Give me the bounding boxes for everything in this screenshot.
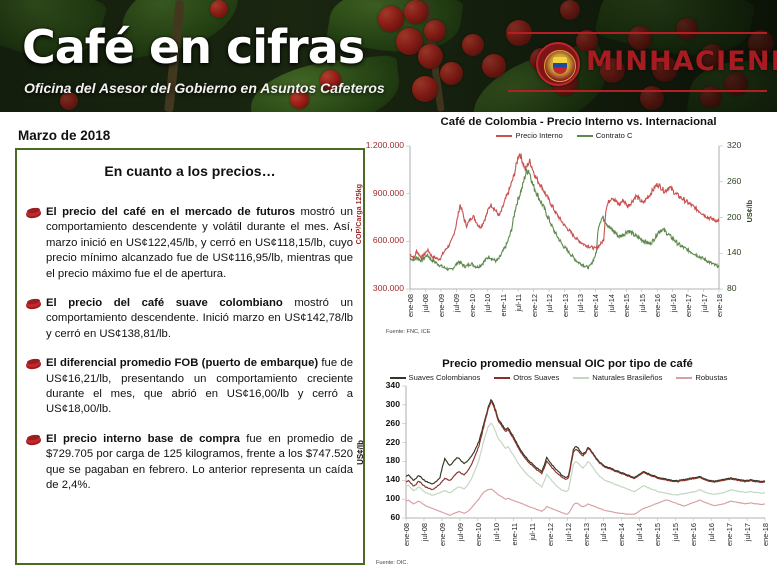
x-axis-tick: jul-08: [421, 294, 430, 312]
chart-precio-interno-vs-internacional: Café de Colombia - Precio Interno vs. In…: [352, 116, 777, 358]
chart-source-note: Fuente: FNC, ICE: [386, 329, 430, 335]
bullet-lead: El precio interno base de compra: [46, 433, 240, 445]
x-axis-tick: ene-18: [761, 523, 770, 546]
series-otros-suaves: [406, 402, 765, 490]
y-axis-tick-left: 300.000: [344, 283, 404, 293]
x-axis-tick: jul-10: [492, 523, 501, 541]
y-axis-tick-right: 80: [727, 283, 737, 293]
x-axis-tick: ene-16: [653, 294, 662, 317]
bullet-text: El precio del café suave colombiano most…: [46, 296, 353, 342]
y-axis-tick-right: 320: [727, 140, 741, 150]
legend-item: Contrato C: [577, 131, 633, 140]
y-axis-tick-right: 140: [727, 247, 741, 257]
list-item: El diferencial promedio FOB (puerto de e…: [26, 356, 353, 418]
y-axis-tick-right: 200: [727, 212, 741, 222]
legend-item: Precio Interno: [496, 131, 562, 140]
chart-plot-area: 300.000600.000900.0001.200.0008014020026…: [352, 140, 777, 335]
x-axis-tick: jul-15: [671, 523, 680, 541]
legend-item: Otros Suaves: [494, 373, 559, 382]
y-axis-label: US¢/lb: [356, 440, 365, 465]
x-axis-tick: ene-13: [561, 294, 570, 317]
legend-item: Robustas: [676, 373, 727, 382]
y-axis-tick: 260: [360, 418, 400, 428]
x-axis-tick: jul-17: [700, 294, 709, 312]
y-axis-tick: 340: [360, 380, 400, 390]
legend-swatch: [494, 377, 510, 379]
y-axis-tick-left: 1.200.000: [344, 140, 404, 150]
x-axis-tick: ene-09: [438, 523, 447, 546]
x-axis-tick: ene-18: [715, 294, 724, 317]
legend-swatch: [573, 377, 589, 379]
logo-rule-bottom: [508, 90, 767, 92]
x-axis-tick: jul-08: [420, 523, 429, 541]
x-axis-tick: jul-13: [576, 294, 585, 312]
chart-plot-area: 60100140180220260300340ene-08jul-08ene-0…: [340, 382, 777, 564]
y-axis-label-right: US¢/lb: [745, 200, 754, 222]
legend-item: Suaves Colombianos: [390, 373, 481, 382]
bullet-text: El precio interno base de compra fue en …: [46, 432, 353, 494]
month-label: Marzo de 2018: [18, 128, 110, 143]
page-title: Café en cifras: [22, 20, 364, 74]
list-item: El precio del café suave colombiano most…: [26, 296, 353, 342]
x-axis-tick: jul-09: [452, 294, 461, 312]
x-axis-tick: jul-16: [669, 294, 678, 312]
y-axis-tick: 220: [360, 437, 400, 447]
y-axis-tick-left: 900.000: [344, 188, 404, 198]
x-axis-tick: ene-11: [499, 294, 508, 316]
logo-rule-top: [508, 32, 767, 34]
bullet-lead: El precio del café suave colombiano: [46, 297, 283, 309]
x-axis-tick: ene-10: [474, 523, 483, 546]
x-axis-tick: jul-17: [743, 523, 752, 541]
panel-heading: En cuanto a los precios…: [17, 163, 363, 179]
bullet-list: El precio del café en el mercado de futu…: [17, 205, 363, 494]
chart-legend: Precio InternoContrato C: [352, 131, 777, 140]
bullet-lead: El diferencial promedio FOB (puerto de e…: [46, 357, 318, 369]
y-axis-tick-left: 600.000: [344, 235, 404, 245]
legend-label: Naturales Brasileños: [592, 373, 662, 382]
coffee-bean-icon: [26, 359, 42, 370]
x-axis-tick: jul-09: [456, 523, 465, 541]
bullet-text: El precio del café en el mercado de futu…: [46, 205, 353, 282]
y-axis-tick: 300: [360, 399, 400, 409]
x-axis-tick: ene-17: [684, 294, 693, 317]
series-contrato-c: [410, 169, 719, 270]
ministry-name: MINHACIENDA: [586, 46, 777, 77]
x-axis-tick: ene-10: [468, 294, 477, 317]
prices-summary-panel: En cuanto a los precios… El precio del c…: [15, 148, 365, 565]
x-axis-tick: ene-08: [402, 523, 411, 546]
chart-legend: Suaves ColombianosOtros SuavesNaturales …: [340, 373, 777, 382]
y-axis-tick-right: 260: [727, 176, 741, 186]
x-axis-tick: ene-11: [510, 523, 519, 545]
x-axis-tick: jul-11: [528, 523, 537, 541]
coffee-bean-icon: [26, 208, 42, 219]
legend-label: Suaves Colombianos: [409, 373, 481, 382]
x-axis-tick: jul-12: [564, 523, 573, 541]
x-axis-tick: jul-11: [514, 294, 523, 312]
x-axis-tick: ene-12: [546, 523, 555, 546]
y-axis-tick: 140: [360, 474, 400, 484]
legend-label: Robustas: [695, 373, 727, 382]
bullet-lead: El precio del café en el mercado de futu…: [46, 206, 295, 218]
x-axis-tick: ene-14: [617, 523, 626, 546]
series-precio-interno: [410, 153, 719, 260]
x-axis-tick: jul-13: [599, 523, 608, 541]
x-axis-tick: jul-12: [545, 294, 554, 312]
x-axis-tick: jul-15: [638, 294, 647, 312]
x-axis-tick: ene-08: [406, 294, 415, 317]
header-banner: Café en cifras Oficina del Asesor del Go…: [0, 0, 777, 112]
y-axis-tick: 60: [360, 512, 400, 522]
x-axis-tick: ene-09: [437, 294, 446, 317]
x-axis-tick: ene-12: [530, 294, 539, 317]
x-axis-tick: ene-15: [622, 294, 631, 317]
chart-title: Precio promedio mensual OIC por tipo de …: [358, 358, 777, 370]
legend-swatch: [676, 377, 692, 379]
legend-label: Precio Interno: [515, 131, 562, 140]
x-axis-tick: ene-15: [653, 523, 662, 546]
x-axis-tick: jul-14: [607, 294, 616, 312]
x-axis-tick: ene-17: [725, 523, 734, 546]
y-axis-tick: 100: [360, 493, 400, 503]
x-axis-tick: jul-16: [707, 523, 716, 541]
coffee-bean-icon: [26, 435, 42, 446]
bullet-text: El diferencial promedio FOB (puerto de e…: [46, 356, 353, 418]
legend-item: Naturales Brasileños: [573, 373, 662, 382]
series-suaves-colombianos: [406, 400, 765, 484]
list-item: El precio del café en el mercado de futu…: [26, 205, 353, 282]
chart-title: Café de Colombia - Precio Interno vs. In…: [380, 116, 777, 128]
legend-label: Otros Suaves: [513, 373, 559, 382]
legend-swatch: [390, 377, 406, 379]
legend-swatch: [577, 135, 593, 137]
legend-swatch: [496, 135, 512, 137]
chart-source-note: Fuente: OIC.: [376, 560, 408, 566]
ministry-logo: MINHACIENDA: [500, 22, 777, 104]
page-subtitle: Oficina del Asesor del Gobierno en Asunt…: [24, 80, 385, 96]
series-robustas: [406, 489, 765, 515]
legend-label: Contrato C: [596, 131, 633, 140]
x-axis-tick: ene-16: [689, 523, 698, 546]
list-item: El precio interno base de compra fue en …: [26, 432, 353, 494]
x-axis-tick: jul-14: [635, 523, 644, 541]
x-axis-tick: ene-13: [582, 523, 591, 546]
y-axis-tick: 180: [360, 455, 400, 465]
x-axis-tick: jul-10: [483, 294, 492, 312]
x-axis-tick: ene-14: [591, 294, 600, 317]
chart-precio-promedio-oic: Precio promedio mensual OIC por tipo de …: [340, 358, 777, 581]
coffee-bean-icon: [26, 299, 42, 310]
colombia-coat-of-arms-icon: [536, 42, 580, 86]
y-axis-label-left: COP/Carga 125kg: [354, 184, 363, 244]
